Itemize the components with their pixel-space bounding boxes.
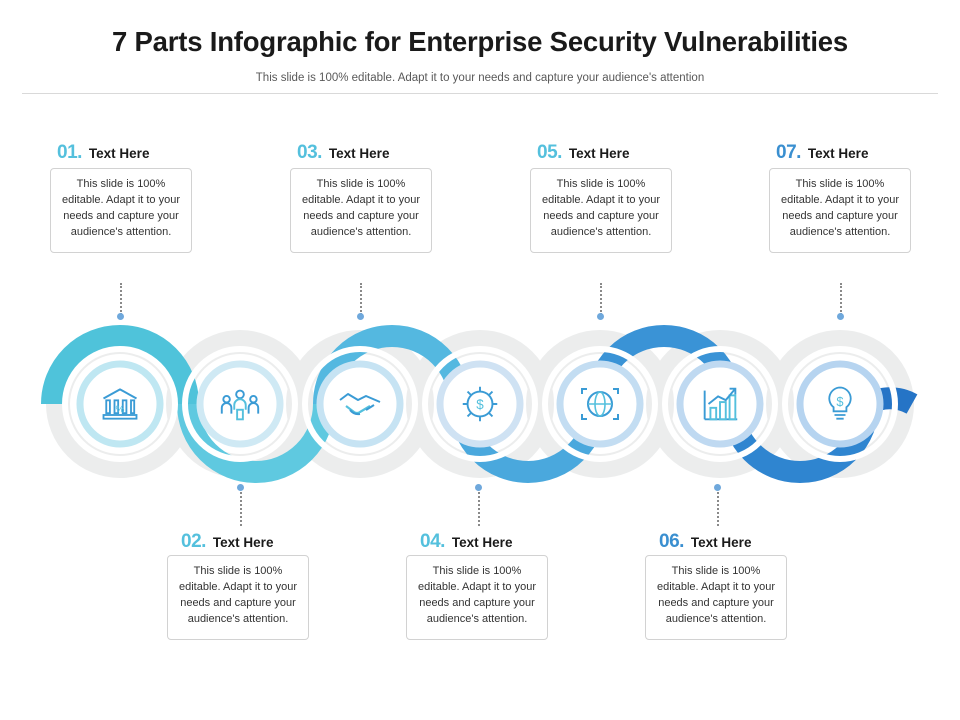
step-head-07: 07. Text Here	[776, 142, 868, 164]
svg-text:%: %	[116, 404, 125, 415]
step-head-06: 06. Text Here	[659, 531, 751, 553]
connector-dot-01	[117, 313, 124, 320]
step-card-04[interactable]: This slide is 100% editable. Adapt it to…	[406, 555, 548, 640]
gear-dollar-icon: $	[457, 381, 503, 427]
lightbulb-dollar-icon: $	[818, 382, 862, 426]
step-number-01: 01.	[57, 142, 82, 164]
connector-dot-05	[597, 313, 604, 320]
step-card-01[interactable]: This slide is 100% editable. Adapt it to…	[50, 168, 192, 253]
step-head-01: 01. Text Here	[57, 142, 149, 164]
growth-chart-icon	[697, 381, 743, 427]
step-number-06: 06.	[659, 531, 684, 553]
step-title-01: Text Here	[89, 146, 150, 161]
team-people-icon	[217, 381, 263, 427]
step-body-06: This slide is 100% editable. Adapt it to…	[655, 564, 777, 628]
step-number-04: 04.	[420, 531, 445, 553]
step-number-05: 05.	[537, 142, 562, 164]
step-number-02: 02.	[181, 531, 206, 553]
connector-03	[360, 283, 362, 315]
step-head-03: 03. Text Here	[297, 142, 389, 164]
step-card-03[interactable]: This slide is 100% editable. Adapt it to…	[290, 168, 432, 253]
step-title-04: Text Here	[452, 535, 513, 550]
page-subtitle: This slide is 100% editable. Adapt it to…	[0, 72, 960, 84]
connector-04	[478, 488, 480, 526]
connector-07	[840, 283, 842, 315]
step-number-03: 03.	[297, 142, 322, 164]
connector-06	[717, 488, 719, 526]
page-title: 7 Parts Infographic for Enterprise Secur…	[0, 26, 960, 58]
connector-dot-02	[237, 484, 244, 491]
connector-01	[120, 283, 122, 315]
connector-05	[600, 283, 602, 315]
step-body-01: This slide is 100% editable. Adapt it to…	[60, 177, 182, 241]
node-06[interactable]	[672, 356, 768, 452]
svg-text:$: $	[476, 397, 484, 412]
globe-network-icon	[576, 380, 624, 428]
step-card-05[interactable]: This slide is 100% editable. Adapt it to…	[530, 168, 672, 253]
node-04[interactable]: $	[432, 356, 528, 452]
step-title-05: Text Here	[569, 146, 630, 161]
step-head-05: 05. Text Here	[537, 142, 629, 164]
step-title-06: Text Here	[691, 535, 752, 550]
step-body-05: This slide is 100% editable. Adapt it to…	[540, 177, 662, 241]
step-card-02[interactable]: This slide is 100% editable. Adapt it to…	[167, 555, 309, 640]
step-title-03: Text Here	[329, 146, 390, 161]
step-card-06[interactable]: This slide is 100% editable. Adapt it to…	[645, 555, 787, 640]
bank-icon: %	[98, 382, 142, 426]
step-body-02: This slide is 100% editable. Adapt it to…	[177, 564, 299, 628]
step-title-02: Text Here	[213, 535, 274, 550]
node-01[interactable]: %	[72, 356, 168, 452]
step-head-04: 04. Text Here	[420, 531, 512, 553]
step-body-04: This slide is 100% editable. Adapt it to…	[416, 564, 538, 628]
connector-dot-03	[357, 313, 364, 320]
step-body-07: This slide is 100% editable. Adapt it to…	[779, 177, 901, 241]
slide-canvas: 7 Parts Infographic for Enterprise Secur…	[0, 0, 960, 720]
handshake-icon	[336, 380, 384, 428]
node-02[interactable]	[192, 356, 288, 452]
node-03[interactable]	[312, 356, 408, 452]
step-body-03: This slide is 100% editable. Adapt it to…	[300, 177, 422, 241]
svg-text:$: $	[836, 394, 843, 409]
node-07[interactable]: $	[792, 356, 888, 452]
node-05[interactable]	[552, 356, 648, 452]
connector-02	[240, 488, 242, 526]
step-card-07[interactable]: This slide is 100% editable. Adapt it to…	[769, 168, 911, 253]
header-divider	[22, 93, 938, 94]
connector-dot-06	[714, 484, 721, 491]
step-title-07: Text Here	[808, 146, 869, 161]
step-number-07: 07.	[776, 142, 801, 164]
step-head-02: 02. Text Here	[181, 531, 273, 553]
connector-dot-04	[475, 484, 482, 491]
connector-dot-07	[837, 313, 844, 320]
